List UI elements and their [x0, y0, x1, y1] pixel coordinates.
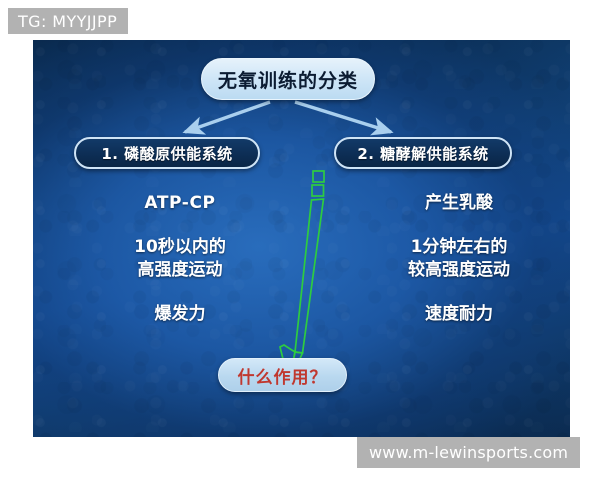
branch-node-phosphagen-label: 1. 磷酸原供能系统 [101, 143, 232, 164]
left-detail-line-1: 10秒以内的 [95, 236, 265, 259]
branch-node-glycolysis[interactable]: 2. 糖酵解供能系统 [334, 137, 512, 169]
left-detail-line-2: 高强度运动 [95, 259, 265, 282]
watermark-top-left-text: TG: MYYJJPP [18, 12, 117, 31]
slide-canvas: 无氧训练的分类 1. 磷酸原供能系统 2. 糖酵解供能系统 ATP-CP 10秒… [33, 40, 570, 437]
watermark-top-left: TG: MYYJJPP [8, 8, 128, 34]
slide-title-node[interactable]: 无氧训练的分类 [201, 58, 375, 100]
arrow-title-to-branch-2 [295, 102, 391, 132]
arrow-title-to-branch-1 [185, 102, 270, 132]
branch-node-phosphagen[interactable]: 1. 磷酸原供能系统 [74, 137, 260, 169]
left-outcome-text: 爆发力 [95, 303, 265, 326]
right-outcome-text: 速度耐力 [369, 303, 549, 326]
right-heading-block: 产生乳酸 [369, 192, 549, 215]
right-detail-line-1: 1分钟左右的 [369, 236, 549, 259]
watermark-bottom-right-text: www.m-lewinsports.com [369, 443, 568, 462]
right-detail-block: 1分钟左右的 较高强度运动 [369, 236, 549, 282]
watermark-bottom-right: www.m-lewinsports.com [357, 437, 580, 468]
right-detail-column: 产生乳酸 1分钟左右的 较高强度运动 速度耐力 [369, 192, 549, 326]
left-detail-column: ATP-CP 10秒以内的 高强度运动 爆发力 [95, 192, 265, 326]
right-detail-line-2: 较高强度运动 [369, 259, 549, 282]
green-emphasis-arrow [280, 171, 324, 383]
question-node[interactable]: 什么作用？ [218, 358, 347, 392]
right-heading-text: 产生乳酸 [369, 192, 549, 215]
slide-title-text: 无氧训练的分类 [218, 66, 358, 93]
left-detail-block: 10秒以内的 高强度运动 [95, 236, 265, 282]
left-heading-block: ATP-CP [95, 192, 265, 215]
question-node-text: 什么作用？ [238, 363, 328, 388]
left-outcome-block: 爆发力 [95, 303, 265, 326]
right-outcome-block: 速度耐力 [369, 303, 549, 326]
branch-node-glycolysis-label: 2. 糖酵解供能系统 [357, 143, 488, 164]
left-heading-text: ATP-CP [95, 192, 265, 215]
